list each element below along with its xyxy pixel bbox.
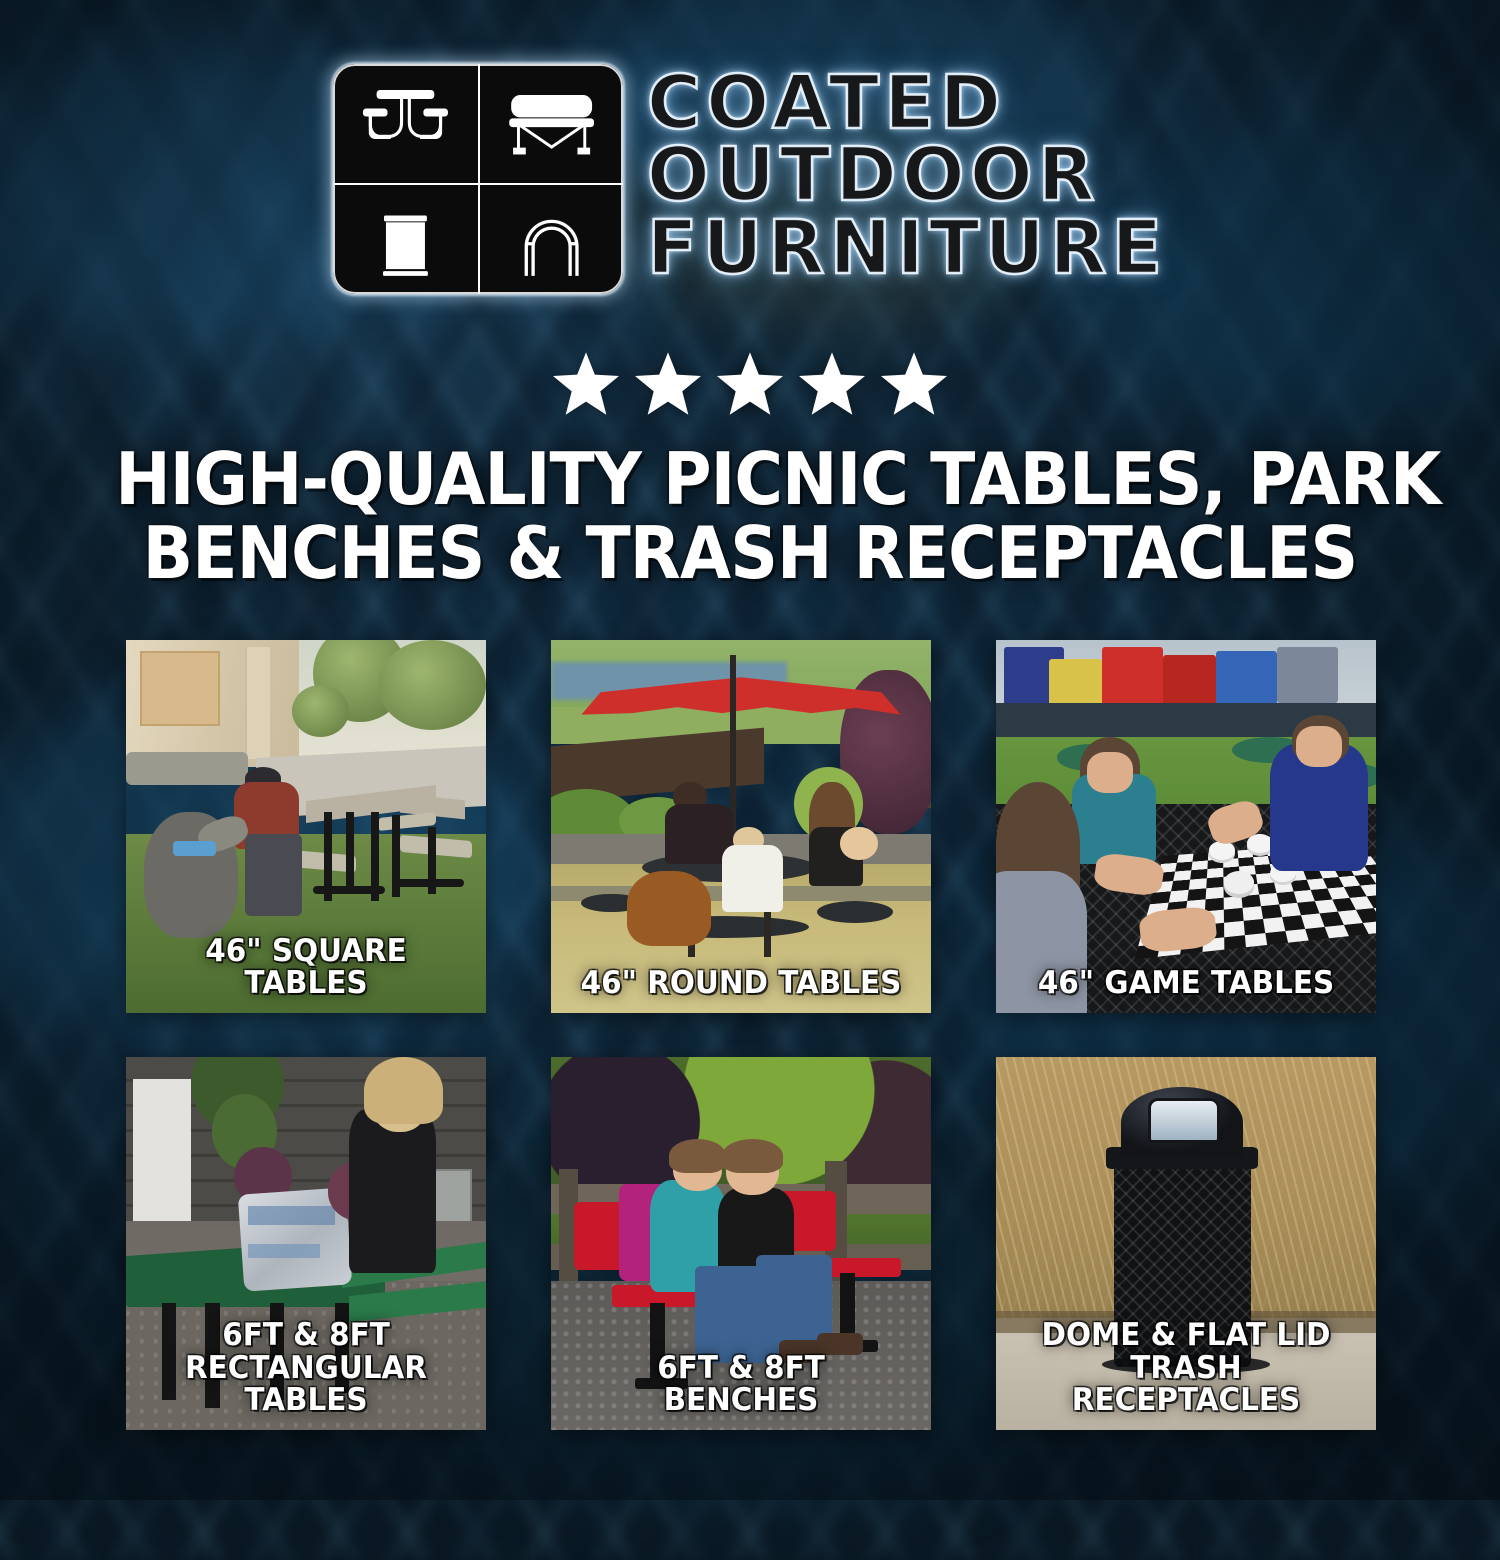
star-icon [717,352,783,416]
caption-line-1: 6FT & 8FT [143,1319,470,1351]
star-icon [881,352,947,416]
caption-line-1: 46" ROUND TABLES [568,967,914,999]
page-title: HIGH-QUALITY PICNIC TABLES, PARK BENCHES… [115,442,1385,590]
product-caption: 46" SQUARE TABLES [135,935,477,999]
brand-name-line-1: COATED [647,68,1167,138]
star-icon [553,352,619,416]
star-rating [0,352,1500,416]
caption-line-2: BENCHES [568,1384,914,1416]
brand-wordmark: COATED OUTDOOR FURNITURE [647,64,1167,283]
product-card-game-tables[interactable]: 46" GAME TABLES [996,640,1376,1013]
caption-line-2: TRASH RECEPTACLES [1013,1352,1359,1416]
caption-line-1: 46" GAME TABLES [1013,967,1359,999]
caption-line-1: DOME & FLAT LID [1013,1319,1359,1351]
headline-line-2: BENCHES & TRASH RECEPTACLES [115,516,1385,590]
brand-name-line-3: FURNITURE [647,213,1167,283]
product-card-benches[interactable]: 6FT & 8FT BENCHES [551,1057,931,1430]
caption-line-1: 6FT & 8FT [568,1352,914,1384]
brand-name-line-2: OUTDOOR [647,140,1167,210]
dome-lid-trash-icon [478,183,623,294]
star-icon [635,352,701,416]
product-card-square-tables[interactable]: 46" SQUARE TABLES [126,640,486,1013]
product-caption: 46" GAME TABLES [1006,967,1367,999]
picnic-table-icon [333,64,478,183]
logo-mark [333,64,623,294]
headline-line-1: HIGH-QUALITY PICNIC TABLES, PARK [115,442,1385,516]
product-card-round-tables[interactable]: 46" ROUND TABLES [551,640,931,1013]
star-icon [799,352,865,416]
product-caption: DOME & FLAT LID TRASH RECEPTACLES [1006,1319,1367,1416]
product-caption: 6FT & 8FT RECTANGULAR TABLES [135,1319,477,1416]
brand-logo: COATED OUTDOOR FURNITURE [0,64,1500,294]
product-photo-round-tables [551,640,931,1013]
flat-lid-trash-icon [333,183,478,294]
product-caption: 6FT & 8FT BENCHES [561,1352,922,1416]
product-caption: 46" ROUND TABLES [561,967,922,999]
caption-line-2: RECTANGULAR TABLES [143,1352,470,1416]
product-card-trash-receptacles[interactable]: DOME & FLAT LID TRASH RECEPTACLES [996,1057,1376,1430]
product-grid: 46" SQUARE TABLES [126,640,1376,1430]
product-photo-game-tables [996,640,1376,1013]
bench-icon [478,64,623,183]
product-card-rectangular-tables[interactable]: 6FT & 8FT RECTANGULAR TABLES [126,1057,486,1430]
caption-line-1: 46" SQUARE TABLES [143,935,470,999]
